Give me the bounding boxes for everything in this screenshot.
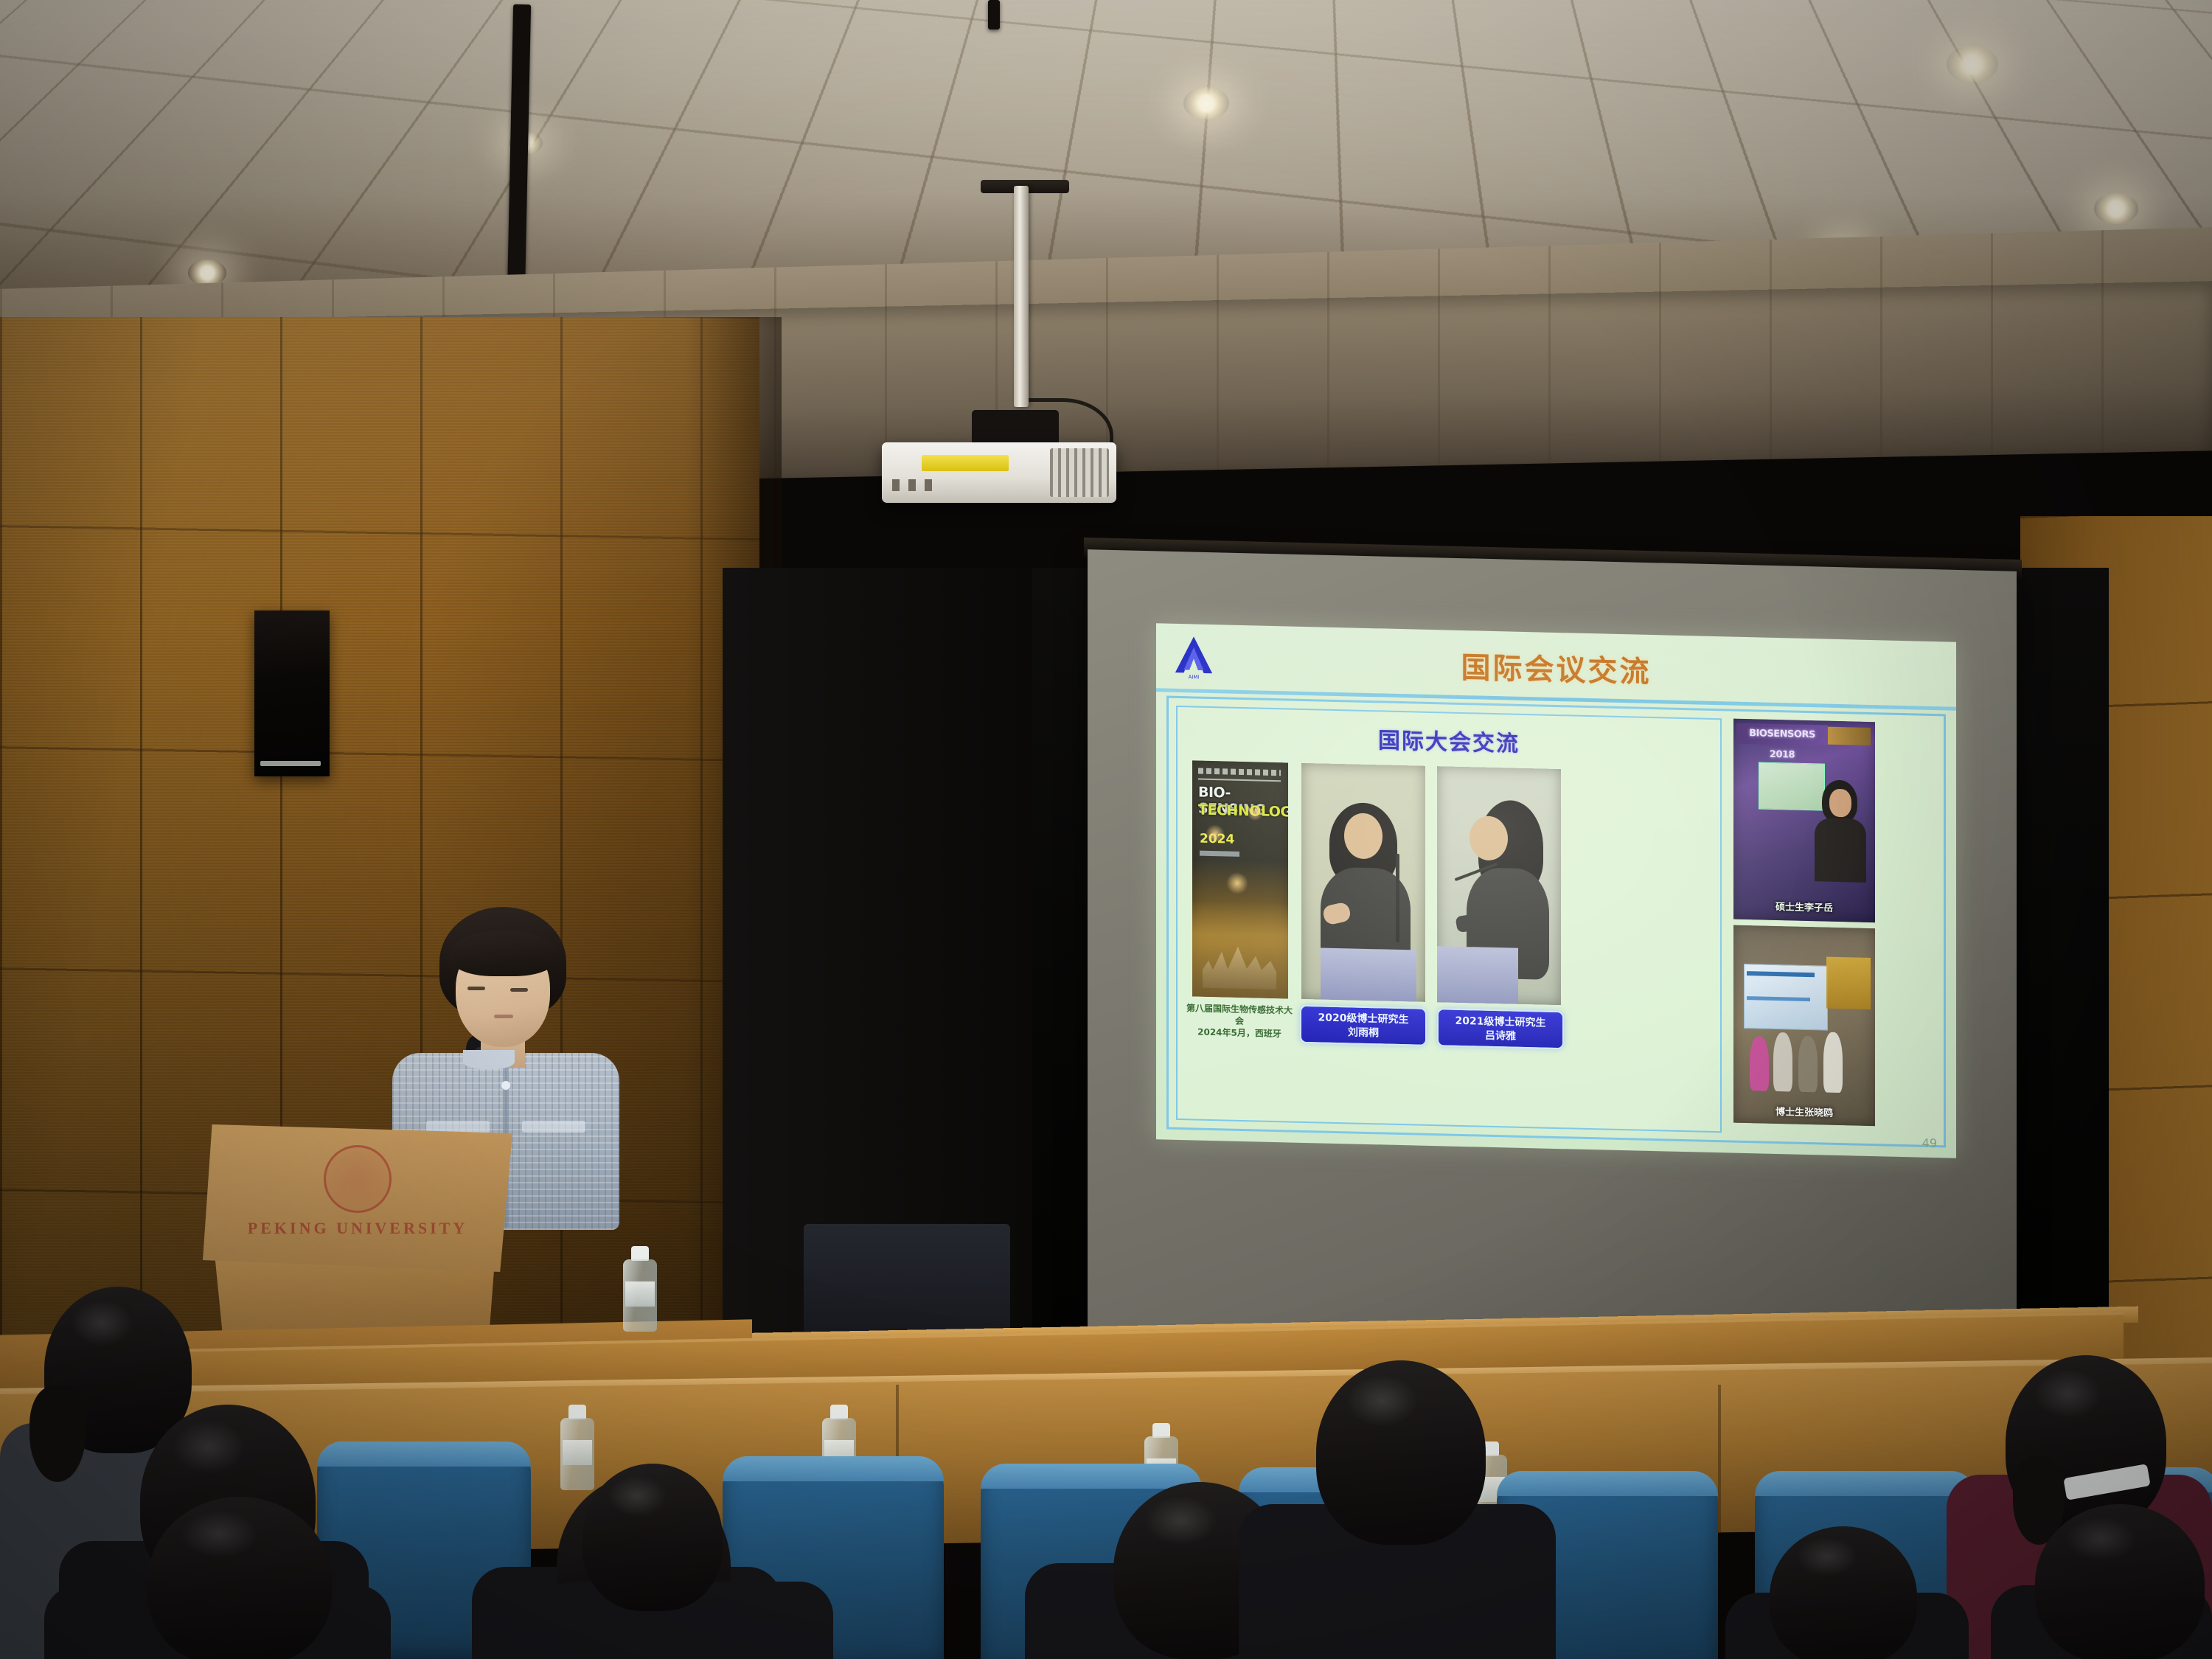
conference-poster-image: BIO-SENSING TECHNOLOGY 2024 xyxy=(1192,760,1288,998)
booth-visitor-3 xyxy=(1798,1036,1818,1093)
slide-page-number: 49 xyxy=(1922,1136,1937,1150)
wall-speaker xyxy=(254,611,330,776)
downlight-4 xyxy=(1947,46,1998,83)
water-bottle-stage-1 xyxy=(623,1246,657,1332)
projector-mount-pole xyxy=(1014,186,1029,407)
downlight-5 xyxy=(2094,193,2138,224)
slide-content-frame: 国际大会交流 BIO-SENSING TECHNOLOGY 2024 xyxy=(1166,696,1946,1148)
projector-vent-grille xyxy=(1050,448,1109,497)
projected-slide: AIMI 国际会议交流 国际大会交流 BIO-SENSING TECHNOLOG… xyxy=(1156,623,1956,1158)
exhibition-booth-photo: 博士生张晓鸥 xyxy=(1733,925,1875,1127)
slide-inner-title: 国际大会交流 xyxy=(1178,717,1720,762)
biosensors-conference-photo: BIOSENSORS 2018 硕士生李子岳 xyxy=(1733,719,1875,923)
slide-inner-panel: 国际大会交流 BIO-SENSING TECHNOLOGY 2024 xyxy=(1176,706,1722,1133)
podium-front-panel: PEKING UNIVERSITY xyxy=(203,1124,512,1272)
conference-caption: 第八届国际生物传感技术大会 2024年5月，西班牙 xyxy=(1183,1002,1295,1040)
student-presentation-photo-2 xyxy=(1437,766,1561,1005)
booth-visitor-1 xyxy=(1750,1036,1769,1091)
projector-buttons xyxy=(892,479,941,491)
downlight-3 xyxy=(1183,87,1229,119)
podium-institution-label: PEKING UNIVERSITY xyxy=(248,1219,467,1238)
booth-visitor-4 xyxy=(1823,1032,1843,1093)
projector-label-strip xyxy=(922,455,1009,471)
photo-caption-phd-student: 博士生张晓鸥 xyxy=(1733,1103,1875,1121)
photo-caption-masters-student: 硕士生李子岳 xyxy=(1733,898,1875,916)
ceiling-track-rail-2 xyxy=(988,0,1000,29)
lecture-hall-photo: AIMI 国际会议交流 国际大会交流 BIO-SENSING TECHNOLOG… xyxy=(0,0,2212,1659)
poster-display-screen xyxy=(1759,762,1825,810)
presenter-label-1: 2020级博士研究生 刘雨桐 xyxy=(1300,1005,1427,1046)
presenter-label-2: 2021级博士研究生 吕诗雅 xyxy=(1437,1008,1564,1049)
ceiling-projector xyxy=(882,442,1116,503)
slide-title: 国际会议交流 xyxy=(1156,636,1956,698)
peking-university-seal-icon xyxy=(324,1145,392,1213)
poster-line-2: TECHNOLOGY xyxy=(1198,802,1285,821)
biosensors-banner-text: BIOSENSORS 2018 xyxy=(1736,723,1828,746)
water-bottle-desk-1 xyxy=(560,1405,594,1490)
student-presentation-photo-1 xyxy=(1301,763,1425,1002)
booth-visitor-2 xyxy=(1773,1032,1792,1092)
